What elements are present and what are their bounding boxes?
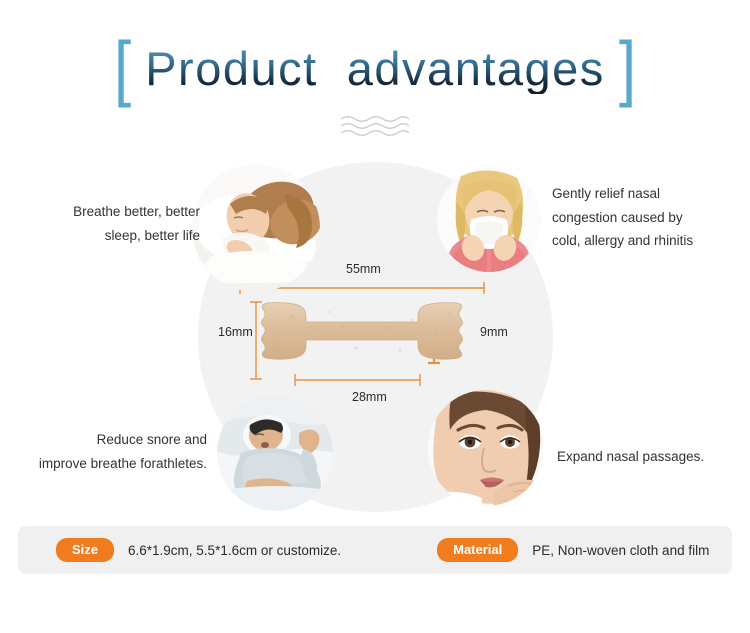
spec-item-size: Size 6.6*1.9cm, 5.5*1.6cm or customize.: [56, 538, 341, 562]
caption-line: improve breathe forathletes.: [2, 452, 207, 476]
caption-line: Gently relief nasal: [552, 182, 748, 206]
left-bracket-icon: [: [114, 32, 131, 105]
caption-line: cold, allergy and rhinitis: [552, 229, 748, 253]
photo-woman-blowing-nose: [437, 168, 541, 272]
page-title: Product advantages: [145, 44, 605, 93]
spec-item-material: Material PE, Non-woven cloth and film: [437, 538, 709, 562]
page-header: [ Product advantages ]: [0, 38, 750, 100]
size-value: 6.6*1.9cm, 5.5*1.6cm or customize.: [128, 543, 341, 558]
dimension-label-center-width: 28mm: [352, 390, 387, 404]
nasal-strip-shape: [262, 303, 463, 360]
dimension-label-total-width: 55mm: [346, 262, 381, 276]
wave-divider: [0, 113, 750, 139]
caption-line: congestion caused by: [552, 206, 748, 230]
dimension-label-end-height: 9mm: [480, 325, 508, 339]
material-value: PE, Non-woven cloth and film: [532, 543, 709, 558]
photo-sleeping-woman: [192, 164, 320, 292]
photo-snoring-man: [217, 395, 333, 511]
caption-line: sleep, better life: [10, 224, 200, 248]
caption-line: Breathe better, better: [10, 200, 200, 224]
feature-caption-reduce-snore: Reduce snore and improve breathe forathl…: [2, 428, 207, 475]
right-bracket-icon: ]: [619, 32, 636, 105]
wave-divider-icon: [338, 113, 412, 139]
material-pill-label: Material: [437, 538, 518, 562]
dimension-line-28mm: [295, 374, 420, 386]
dimension-line-16mm: [250, 302, 262, 379]
feature-caption-nasal-congestion: Gently relief nasal congestion caused by…: [552, 182, 748, 253]
title-row: [ Product advantages ]: [114, 38, 636, 100]
caption-line: Expand nasal passages.: [557, 445, 747, 469]
photo-woman-face-closeup: [428, 390, 544, 506]
caption-line: Reduce snore and: [2, 428, 207, 452]
dimension-label-total-height: 16mm: [218, 325, 253, 339]
feature-caption-expand-passages: Expand nasal passages.: [557, 445, 747, 469]
feature-caption-better-sleep: Breathe better, better sleep, better lif…: [10, 200, 200, 247]
size-pill-label: Size: [56, 538, 114, 562]
spec-bar: Size 6.6*1.9cm, 5.5*1.6cm or customize. …: [18, 526, 732, 574]
